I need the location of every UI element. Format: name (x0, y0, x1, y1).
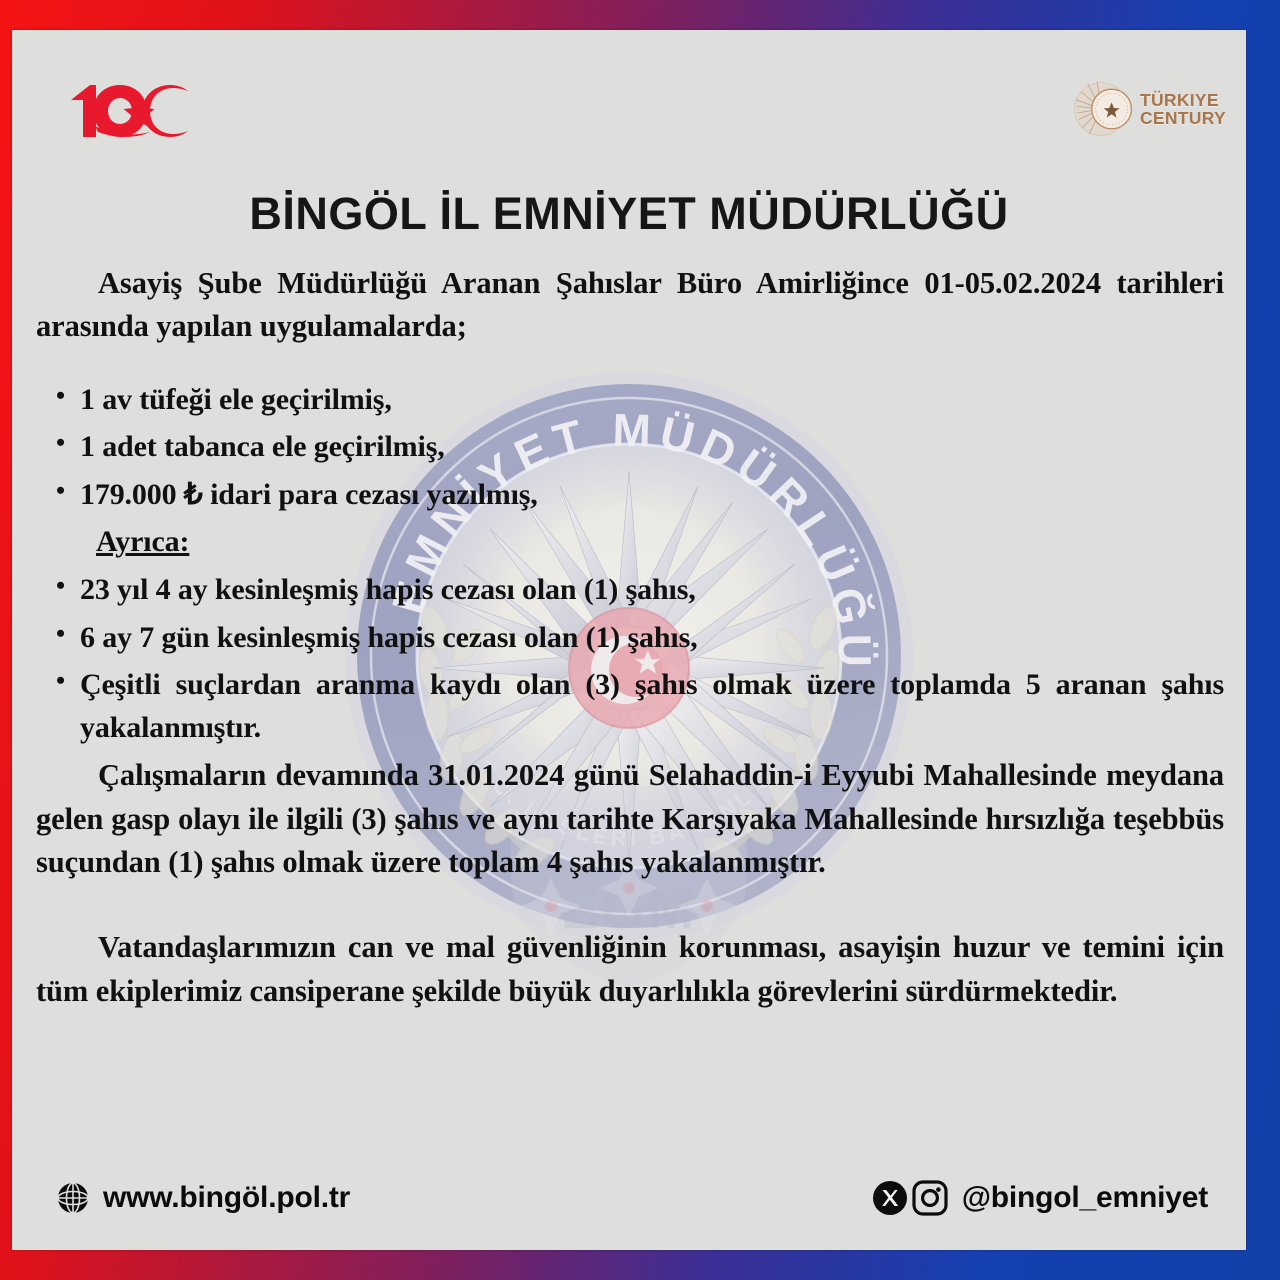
turkey-centennial-100-logo (64, 78, 194, 144)
page-title: BİNGÖL İL EMNİYET MÜDÜRLÜĞÜ (12, 188, 1246, 240)
third-paragraph: Vatandaşlarımızın can ve mal güvenliğini… (36, 926, 1224, 1013)
list-item: 1 av tüfeği ele geçirilmiş, (36, 379, 1224, 422)
century-line2: CENTURY (1140, 109, 1226, 127)
list-item-label: Çeşitli suçlardan aranma kaydı olan (3) … (80, 668, 1224, 744)
list-item: 23 yıl 4 ay kesinleşmiş hapis cezası ola… (36, 569, 1224, 612)
poster-content: TÜRKIYE CENTURY BİNGÖL İL EMNİYET MÜDÜRL… (12, 30, 1246, 1250)
list-item: Çeşitli suçlardan aranma kaydı olan (3) … (36, 664, 1224, 749)
instagram-icon[interactable] (911, 1179, 949, 1217)
list-item-label: 1 av tüfeği ele geçirilmiş, (80, 383, 392, 416)
announcement-body: Asayiş Şube Müdürlüğü Aranan Şahıslar Bü… (36, 262, 1224, 1013)
summary-bullet-list: 1 av tüfeği ele geçirilmiş, 1 adet taban… (36, 379, 1224, 750)
list-item-label: 23 yıl 4 ay kesinleşmiş hapis cezası ola… (80, 573, 696, 606)
x-twitter-icon[interactable] (871, 1179, 909, 1217)
list-item-label: 179.000 ₺ idari para cezası yazılmış, (80, 478, 538, 511)
intro-paragraph: Asayiş Şube Müdürlüğü Aranan Şahıslar Bü… (36, 262, 1224, 349)
turkiye-century-logo: TÜRKIYE CENTURY (1072, 76, 1226, 142)
list-subheading: Ayrıca: (36, 521, 1224, 564)
globe-icon (56, 1181, 90, 1215)
list-item-label: 1 adet tabanca ele geçirilmiş, (80, 430, 445, 463)
poster-card: EMNİYET MÜDÜRLÜĞÜ T.C. İÇİŞLERİ BAKANLIĞ… (12, 30, 1246, 1250)
poster-frame: EMNİYET MÜDÜRLÜĞÜ T.C. İÇİŞLERİ BAKANLIĞ… (0, 0, 1280, 1280)
footer: www.bingöl.pol.tr @bin (12, 1168, 1246, 1228)
list-item: 1 adet tabanca ele geçirilmiş, (36, 426, 1224, 469)
website-label: www.bingöl.pol.tr (103, 1181, 350, 1215)
century-logo-text: TÜRKIYE CENTURY (1140, 91, 1226, 127)
list-item: 6 ay 7 gün kesinleşmiş hapis cezası olan… (36, 617, 1224, 660)
century-line1: TÜRKIYE (1140, 91, 1226, 109)
social-handle-label: @bingol_emniyet (962, 1181, 1208, 1215)
social-icon-group (871, 1179, 949, 1217)
list-item: 179.000 ₺ idari para cezası yazılmış, (36, 474, 1224, 517)
list-item-label: 6 ay 7 gün kesinleşmiş hapis cezası olan… (80, 621, 697, 654)
list-subheading-label: Ayrıca: (96, 525, 189, 558)
website-link[interactable]: www.bingöl.pol.tr (56, 1181, 350, 1215)
second-paragraph: Çalışmaların devamında 31.01.2024 günü S… (36, 754, 1224, 884)
social-handle[interactable]: @bingol_emniyet (871, 1179, 1208, 1217)
turkiye-century-emblem-icon (1072, 76, 1138, 142)
